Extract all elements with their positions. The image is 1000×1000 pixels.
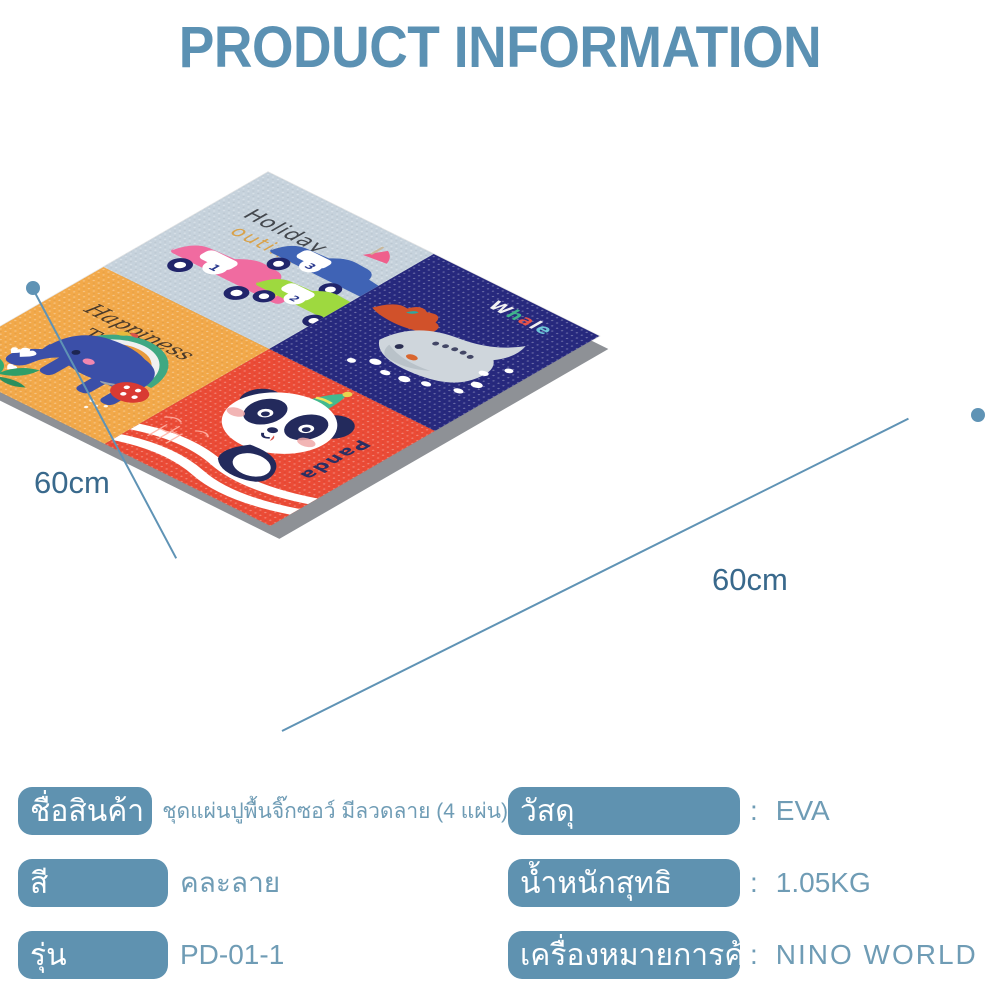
dimension-dot-left-top <box>26 281 40 295</box>
dimension-dot-right <box>971 408 985 422</box>
spec-label-product-name: ชื่อสินค้า <box>18 787 152 835</box>
spec-value-product-name: ชุดแผ่นปูพื้นจิ๊กซอว์ มีลวดลาย (4 แผ่น) <box>162 795 508 828</box>
spec-row-model: รุ่น PD-01-1 <box>18 926 508 984</box>
spec-label-model: รุ่น <box>18 931 168 979</box>
spec-column-left: ชื่อสินค้า ชุดแผ่นปูพื้นจิ๊กซอว์ มีลวดลา… <box>18 782 508 998</box>
spec-label-material: วัสดุ <box>508 787 740 835</box>
page-title: PRODUCT INFORMATION <box>40 14 960 81</box>
spec-value-net-weight: 1.05KG <box>776 867 871 899</box>
spec-row-net-weight: น้ำหนักสุทธิ : 1.05KG <box>508 854 1000 912</box>
spec-label-trademark: เครื่องหมายการค้า <box>508 931 740 979</box>
dimension-label-left: 60cm <box>34 465 110 501</box>
spec-row-trademark: เครื่องหมายการค้า : NINO WORLD <box>508 926 1000 984</box>
dimension-label-front: 60cm <box>712 562 788 598</box>
spec-row-material: วัสดุ : EVA <box>508 782 1000 840</box>
spec-colon-trademark: : <box>750 939 758 971</box>
spec-colon-net-weight: : <box>750 867 758 899</box>
spec-value-model: PD-01-1 <box>180 939 284 971</box>
product-information-page: PRODUCT INFORMATION Holiday outing 1 <box>0 0 1000 1000</box>
spec-value-color: คละลาย <box>180 861 280 905</box>
spec-row-product-name: ชื่อสินค้า ชุดแผ่นปูพื้นจิ๊กซอว์ มีลวดลา… <box>18 782 508 840</box>
spec-value-material: EVA <box>776 795 830 827</box>
spec-row-color: สี คละลาย <box>18 854 508 912</box>
spec-label-color: สี <box>18 859 168 907</box>
spec-colon-material: : <box>750 795 758 827</box>
spec-column-right: วัสดุ : EVA น้ำหนักสุทธิ : 1.05KG เครื่อ… <box>508 782 1000 998</box>
spec-value-trademark: NINO WORLD <box>776 939 978 971</box>
spec-label-net-weight: น้ำหนักสุทธิ <box>508 859 740 907</box>
foam-mat-assembly: Holiday outing 1 <box>0 150 1000 770</box>
product-image: Holiday outing 1 <box>0 150 1000 770</box>
